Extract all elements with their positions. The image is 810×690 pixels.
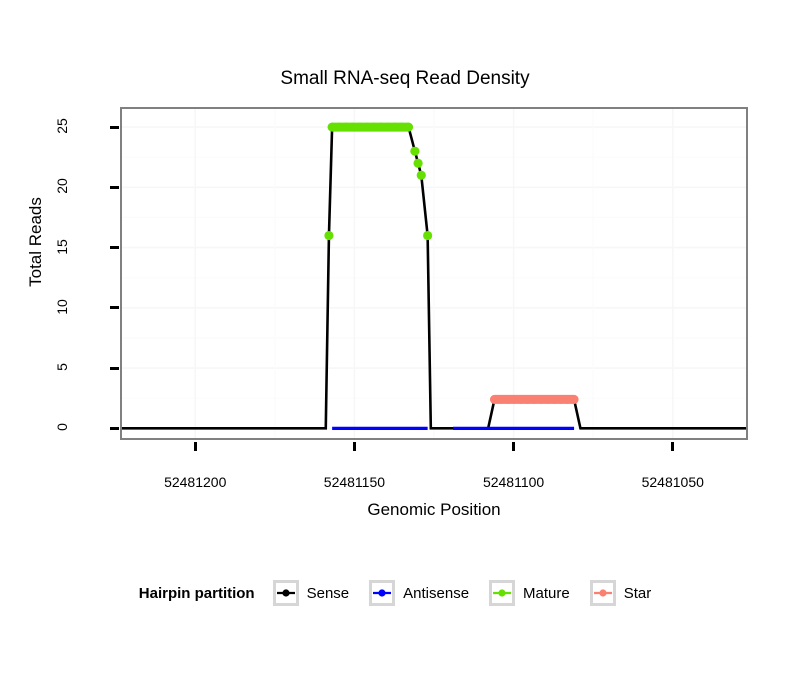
plot-area xyxy=(122,109,746,438)
data-point-star xyxy=(570,395,579,404)
y-tick-mark xyxy=(110,186,119,189)
x-tick-label: 52481050 xyxy=(603,474,743,490)
y-tick-label: 5 xyxy=(54,337,70,397)
data-point-mature xyxy=(410,147,419,156)
legend-label: Sense xyxy=(307,585,350,602)
y-tick-mark xyxy=(110,367,119,370)
y-tick-label: 0 xyxy=(54,397,70,457)
x-tick-mark xyxy=(671,442,674,451)
y-tick-mark xyxy=(110,306,119,309)
legend-label: Antisense xyxy=(403,585,469,602)
y-tick-mark xyxy=(110,427,119,430)
data-point-mature xyxy=(324,231,333,240)
legend-key-star-icon xyxy=(590,580,616,606)
y-tick-label: 15 xyxy=(54,217,70,277)
legend-key-antisense-icon xyxy=(369,580,395,606)
chart-canvas: Small RNA-seq Read Density Total Reads 0… xyxy=(0,0,810,690)
x-axis-label: Genomic Position xyxy=(120,500,748,520)
legend-item-antisense[interactable]: Antisense xyxy=(369,580,483,606)
x-tick-label: 52481200 xyxy=(125,474,265,490)
x-tick-mark xyxy=(512,442,515,451)
legend-label: Mature xyxy=(523,585,570,602)
y-tick-mark xyxy=(110,246,119,249)
legend-item-star[interactable]: Star xyxy=(590,580,666,606)
legend-items: SenseAntisenseMatureStar xyxy=(273,580,672,606)
legend-title: Hairpin partition xyxy=(139,585,255,602)
y-tick-label: 20 xyxy=(54,156,70,216)
y-axis-label: Total Reads xyxy=(26,162,46,322)
x-tick-label: 52481150 xyxy=(284,474,424,490)
data-point-mature xyxy=(413,159,422,168)
data-point-mature xyxy=(417,171,426,180)
y-tick-label: 10 xyxy=(54,277,70,337)
legend-item-mature[interactable]: Mature xyxy=(489,580,584,606)
y-tick-mark xyxy=(110,126,119,129)
x-tick-label: 52481100 xyxy=(444,474,584,490)
legend-key-mature-icon xyxy=(489,580,515,606)
x-tick-mark xyxy=(194,442,197,451)
data-point-mature xyxy=(423,231,432,240)
chart-title: Small RNA-seq Read Density xyxy=(0,68,810,90)
plot-panel xyxy=(120,107,748,440)
legend-key-sense-icon xyxy=(273,580,299,606)
legend: Hairpin partition SenseAntisenseMatureSt… xyxy=(0,580,810,606)
y-tick-label: 25 xyxy=(54,96,70,156)
legend-label: Star xyxy=(624,585,652,602)
x-tick-mark xyxy=(353,442,356,451)
legend-item-sense[interactable]: Sense xyxy=(273,580,364,606)
data-point-mature xyxy=(404,123,413,132)
